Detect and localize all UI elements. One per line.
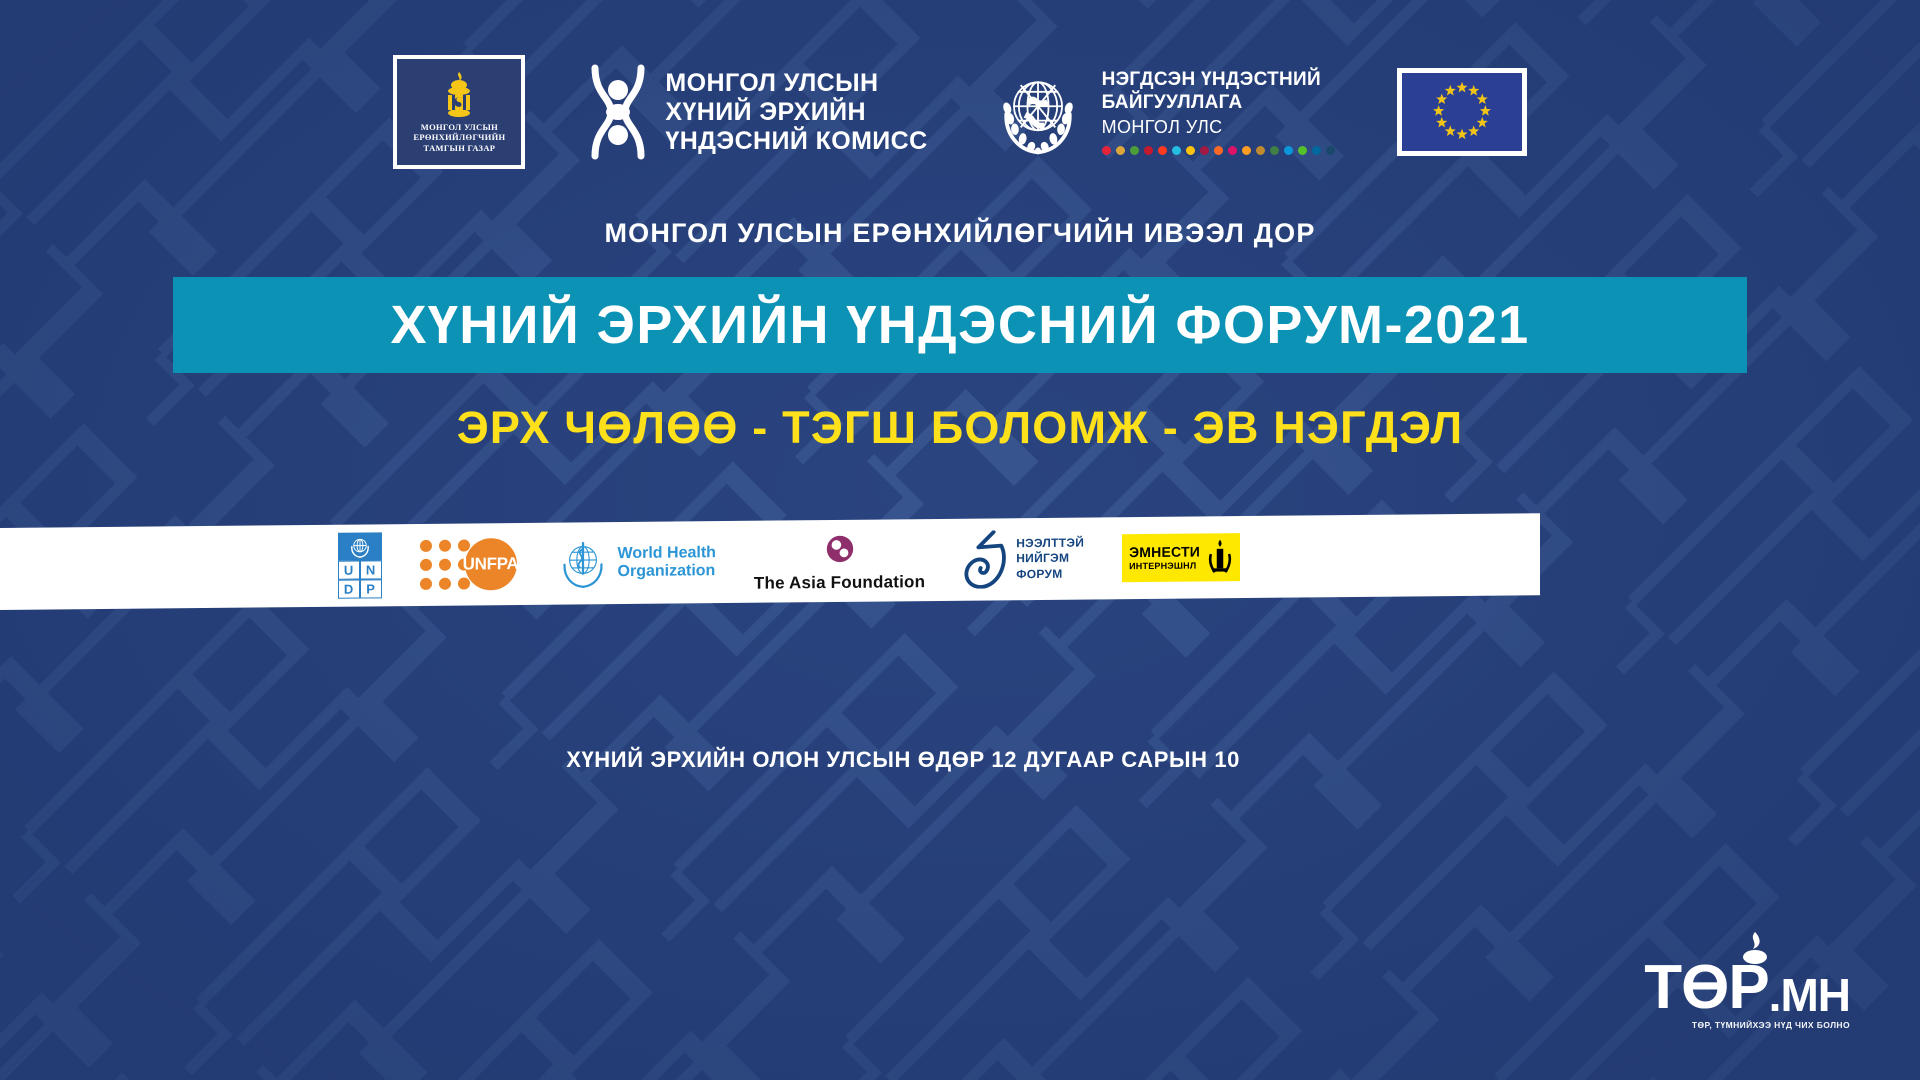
sdg-dot — [1186, 146, 1195, 155]
brand-word-main: ТӨР — [1644, 959, 1768, 1018]
sdg-dot — [1144, 146, 1153, 155]
sdg-dot — [1270, 146, 1279, 155]
page-title: ХҮНИЙ ЭРХИЙН ҮНДЭСНИЙ ФОРУМ-2021 — [390, 294, 1529, 356]
eu-star — [1476, 117, 1487, 128]
sdg-dot — [1256, 146, 1265, 155]
soyombo-emblem-icon — [439, 71, 479, 119]
sponsor-logo-bar: МОНГОЛ УЛСЫН ЕРӨНХИЙЛӨГЧИЙН ТАМГЫН ГАЗАР… — [0, 52, 1920, 172]
un-emblem-icon — [990, 64, 1086, 160]
sdg-dot — [1200, 146, 1209, 155]
nhrc-line-1: МОНГОЛ УЛСЫН — [665, 69, 927, 98]
sdg-dot — [1298, 146, 1307, 155]
sdg-dot — [1130, 146, 1139, 155]
undp-mark: U N D P — [338, 532, 382, 598]
patron-line: МОНГОЛ УЛСЫН ЕРӨНХИЙЛӨГЧИЙН ИВЭЭЛ ДОР — [0, 218, 1920, 249]
open-society-forum-logo: НЭЭЛТТЭЙ НИЙГЭМ ФОРУМ — [963, 530, 1084, 589]
who-emblem-icon — [555, 535, 611, 592]
unfpa-dot — [420, 540, 432, 552]
eu-star — [1468, 125, 1479, 136]
nhrc-line-3: ҮНДЭСНИЙ КОМИСС — [665, 127, 927, 156]
slogan: ЭРХ ЧӨЛӨӨ - ТЭГШ БОЛОМЖ - ЭВ НЭГДЭЛ — [0, 402, 1920, 454]
eu-flag-logo — [1397, 68, 1527, 156]
who-label: World Health Organization — [618, 544, 716, 582]
unfpa-wordmark: UNFPA — [465, 538, 517, 590]
eu-star — [1444, 125, 1455, 136]
amnesty-line-1: ЭМНЕСТИ — [1129, 545, 1200, 561]
brand-tagline: ТӨР, ТҮМНИЙХЭЭ НҮД ЧИХ БОЛНО — [1692, 1020, 1850, 1030]
undp-letter-u: U — [338, 561, 360, 580]
seal-frame: МОНГОЛ УЛСЫН ЕРӨНХИЙЛӨГЧИЙН ТАМГЫН ГАЗАР — [393, 55, 525, 169]
osf-line-2: НИЙГЭМ — [1016, 551, 1084, 567]
undp-letter-n: N — [360, 560, 382, 579]
seal-line-1: МОНГОЛ УЛСЫН — [413, 122, 505, 132]
seal-line-2: ЕРӨНХИЙЛӨГЧИЙН — [413, 132, 505, 142]
sdg-dot — [1312, 146, 1321, 155]
amnesty-international-logo: ЭМНЕСТИ ИНТЕРНЭШНЛ — [1122, 533, 1240, 582]
un-line-2: БАЙГУУЛЛАГА — [1102, 92, 1335, 115]
unfpa-dot — [420, 578, 432, 590]
sdg-dot — [1228, 146, 1237, 155]
undp-letter-d: D — [338, 580, 360, 599]
sdg-dot — [1242, 146, 1251, 155]
amnesty-line-2: ИНТЕРНЭШНЛ — [1129, 560, 1200, 571]
sdg-dot — [1326, 146, 1335, 155]
unfpa-dot — [439, 578, 451, 590]
sdg-dot — [1158, 146, 1167, 155]
title-banner: ХҮНИЙ ЭРХИЙН ҮНДЭСНИЙ ФОРУМ-2021 — [173, 277, 1747, 373]
who-line-1: World Health — [618, 544, 716, 563]
eu-star — [1444, 85, 1455, 96]
brand-word-suffix: .МН — [1769, 974, 1850, 1018]
undp-letter-p: P — [360, 579, 382, 598]
eu-star — [1479, 105, 1490, 116]
asia-foundation-logo: The Asia Foundation — [754, 528, 925, 594]
seal-caption: МОНГОЛ УЛСЫН ЕРӨНХИЙЛӨГЧИЙН ТАМГЫН ГАЗАР — [413, 122, 505, 152]
tor-mn-brand[interactable]: ТӨР.МН ТӨР, ТҮМНИЙХЭЭ НҮД ЧИХ БОЛНО — [1644, 931, 1850, 1030]
eu-star — [1476, 93, 1487, 104]
sdg-color-dots — [1102, 146, 1335, 155]
eu-star — [1468, 85, 1479, 96]
human-figure-icon — [587, 64, 649, 160]
eu-flag — [1397, 68, 1527, 156]
eu-star — [1456, 129, 1467, 140]
undp-letters: U N D P — [338, 560, 382, 598]
undp-logo: U N D P — [338, 532, 382, 598]
osf-spiral-icon — [963, 530, 1009, 588]
un-mongolia-logo: НЭГДСЭН ҮНДЭСТНИЙ БАЙГУУЛЛАГА МОНГОЛ УЛС — [990, 64, 1335, 160]
osf-label: НЭЭЛТТЭЙ НИЙГЭМ ФОРУМ — [1016, 535, 1084, 582]
president-seal-logo: МОНГОЛ УЛСЫН ЕРӨНХИЙЛӨГЧИЙН ТАМГЫН ГАЗАР — [393, 55, 525, 169]
nhrc-label: МОНГОЛ УЛСЫН ХҮНИЙ ЭРХИЙН ҮНДЭСНИЙ КОМИС… — [665, 69, 927, 156]
undp-emblem — [338, 532, 382, 560]
eu-star — [1436, 117, 1447, 128]
sdg-dot — [1116, 146, 1125, 155]
eu-star — [1436, 93, 1447, 104]
eu-star — [1456, 82, 1467, 93]
unfpa-logo: UNFPA — [420, 538, 517, 591]
eu-star — [1433, 105, 1444, 116]
human-rights-day-line: ХҮНИЙ ЭРХИЙН ОЛОН УЛСЫН ӨДӨР 12 ДУГААР С… — [0, 747, 1540, 773]
sdg-dot — [1284, 146, 1293, 155]
nhrc-logo: МОНГОЛ УЛСЫН ХҮНИЙ ЭРХИЙН ҮНДЭСНИЙ КОМИС… — [587, 64, 927, 160]
seal-line-3: ТАМГЫН ГАЗАР — [413, 143, 505, 153]
brand-wordmark: ТӨР.МН — [1644, 959, 1850, 1018]
nhrc-line-2: ХҮНИЙ ЭРХИЙН — [665, 98, 927, 127]
osf-line-1: НЭЭЛТТЭЙ — [1016, 535, 1084, 551]
sdg-dot — [1172, 146, 1181, 155]
asia-foundation-mark-icon — [820, 529, 860, 569]
unfpa-dot — [439, 540, 451, 552]
un-label: НЭГДСЭН ҮНДЭСТНИЙ БАЙГУУЛЛАГА МОНГОЛ УЛС — [1102, 69, 1335, 155]
who-line-2: Organization — [618, 562, 716, 581]
eu-stars-icon — [1402, 73, 1522, 151]
amnesty-label: ЭМНЕСТИ ИНТЕРНЭШНЛ — [1129, 545, 1200, 571]
partner-logo-row: U N D P UNFPA — [0, 513, 1540, 610]
who-logo: World Health Organization — [555, 534, 716, 592]
un-line-3: МОНГОЛ УЛС — [1102, 115, 1335, 139]
unfpa-dot — [458, 577, 470, 589]
sdg-dot — [1102, 146, 1111, 155]
sdg-dot — [1214, 146, 1223, 155]
un-line-1: НЭГДСЭН ҮНДЭСТНИЙ — [1102, 69, 1335, 92]
unfpa-dot — [458, 539, 470, 551]
asia-foundation-label: The Asia Foundation — [754, 572, 925, 594]
unfpa-dot — [420, 559, 432, 571]
amnesty-candle-wire-icon — [1207, 538, 1233, 576]
osf-line-3: ФОРУМ — [1016, 566, 1084, 582]
unfpa-dot — [439, 559, 451, 571]
un-emblem-small-icon — [348, 534, 372, 558]
